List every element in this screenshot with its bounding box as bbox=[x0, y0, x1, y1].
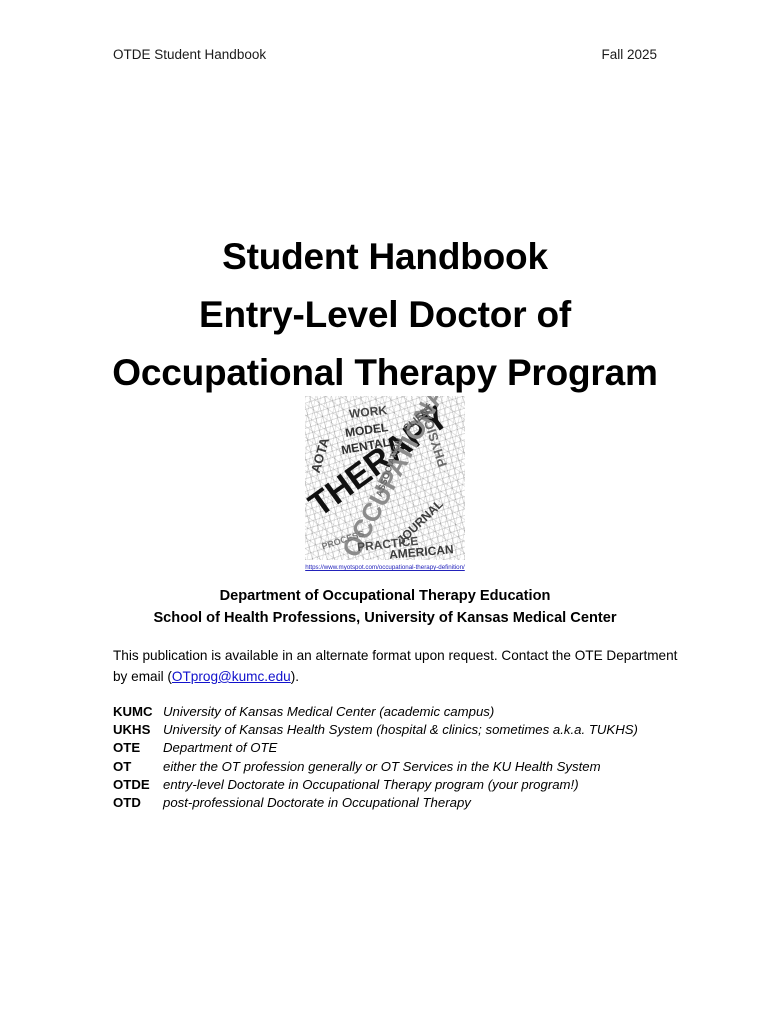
title-line-1: Student Handbook bbox=[60, 228, 710, 286]
abbreviation-definition: University of Kansas Health System (hosp… bbox=[163, 721, 638, 739]
abbreviation-definition: Department of OTE bbox=[163, 739, 277, 757]
document-page: OTDE Student Handbook Fall 2025 Student … bbox=[0, 0, 770, 1024]
publication-notice: This publication is available in an alte… bbox=[113, 645, 695, 687]
word-cloud-word-work: WORK bbox=[348, 404, 387, 420]
department-name: Department of Occupational Therapy Educa… bbox=[40, 585, 730, 607]
title-line-2: Entry-Level Doctor of bbox=[60, 286, 710, 344]
abbreviation-definition: either the OT profession generally or OT… bbox=[163, 758, 601, 776]
abbreviation-definition: University of Kansas Medical Center (aca… bbox=[163, 703, 494, 721]
page-header: OTDE Student Handbook Fall 2025 bbox=[113, 46, 657, 64]
abbreviation-row: OTD post-professional Doctorate in Occup… bbox=[113, 794, 695, 812]
word-cloud-image-wrapper: THERAPY OCCUPATIONAL MODEL MENTAL CLIENT… bbox=[0, 396, 770, 560]
image-source-link[interactable]: https://www.myotspot.com/occupational-th… bbox=[0, 563, 770, 573]
abbreviation-row: OTDE entry-level Doctorate in Occupation… bbox=[113, 776, 695, 794]
page-title: Student Handbook Entry-Level Doctor of O… bbox=[60, 228, 710, 402]
abbreviation-row: UKHS University of Kansas Health System … bbox=[113, 721, 695, 739]
title-line-3: Occupational Therapy Program bbox=[60, 344, 710, 402]
abbreviation-row: KUMC University of Kansas Medical Center… bbox=[113, 703, 695, 721]
abbreviation-definition: entry-level Doctorate in Occupational Th… bbox=[163, 776, 579, 794]
abbreviation-term: KUMC bbox=[113, 703, 163, 721]
abbreviation-term: OTD bbox=[113, 794, 163, 812]
header-left-text: OTDE Student Handbook bbox=[113, 46, 266, 64]
abbreviation-row: OT either the OT profession generally or… bbox=[113, 758, 695, 776]
word-cloud-image: THERAPY OCCUPATIONAL MODEL MENTAL CLIENT… bbox=[305, 396, 465, 560]
publication-notice-text-after: ). bbox=[291, 669, 299, 684]
abbreviation-term: OT bbox=[113, 758, 163, 776]
abbreviation-term: UKHS bbox=[113, 721, 163, 739]
abbreviation-term: OTE bbox=[113, 739, 163, 757]
abbreviation-row: OTE Department of OTE bbox=[113, 739, 695, 757]
school-name: School of Health Professions, University… bbox=[40, 607, 730, 629]
header-right-text: Fall 2025 bbox=[601, 46, 657, 64]
abbreviation-definition: post-professional Doctorate in Occupatio… bbox=[163, 794, 471, 812]
abbreviation-list: KUMC University of Kansas Medical Center… bbox=[113, 703, 695, 812]
abbreviation-term: OTDE bbox=[113, 776, 163, 794]
department-block: Department of Occupational Therapy Educa… bbox=[40, 585, 730, 629]
ote-email-link[interactable]: OTprog@kumc.edu bbox=[172, 669, 291, 684]
